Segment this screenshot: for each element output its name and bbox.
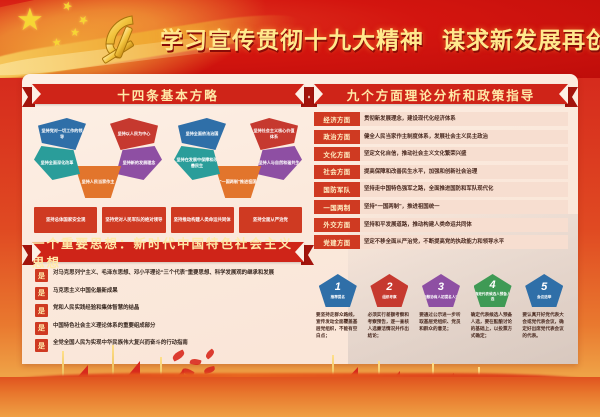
petal-1 [171,349,186,361]
pentagon-right-segment-top-left[interactable]: 坚持全面依法治国 [178,118,226,150]
table-row[interactable]: 文化方面 坚定文化自信，推动社会主义文化繁荣兴盛 [314,147,568,161]
strategy-box-4[interactable]: 坚持全面从严治党 [239,207,302,233]
segment-label: 坚持以人民为中心 [118,131,151,137]
bottom-flag-decoration [0,322,600,417]
left-panel-title: 十四条基本方略 [117,85,219,104]
pentagon-right-segment-top-right[interactable]: 坚持社会主义核心价值体系 [250,118,298,150]
list-item[interactable]: 是 党和人民实践经验和集体智慧的结晶 [35,304,301,317]
thought-title-ribbon: 一个重要思想：新时代中国特色社会主义思想 [32,242,304,262]
segment-label: 坚持党对一切工作的领导 [40,128,84,139]
strategy-box-1[interactable]: 坚持总体国家安全观 [34,207,97,233]
thought-item-text: 马克思主义中国化最新成果 [53,287,118,295]
poster-root: ★ ★ ★ ★ ★ 学习宣传贯彻十九大精神 谋求新发展再创新业绩 [0,0,600,417]
badge-number: 4 [490,280,496,291]
ribbon-notch-right [295,84,304,104]
aspect-text: 坚定不移全面从严治党，不断提高党的执政能力和领导水平 [360,235,568,249]
aspect-text: 提高保障和改善民生水平，加强和创新社会治理 [360,165,568,179]
aspect-text: 坚持“一国两制”，推进祖国统一 [360,200,568,214]
pentagon-right-segment-right[interactable]: 坚持人与自然和谐共生 [256,146,302,180]
pentagon-diagrams: 坚持党对一切工作的领导 坚持以人民为中心 坚持新的发展理念 坚持人民当家作主 坚… [32,112,304,200]
right-column: 九个方面理论分析和政策指导 经济方面 贯彻新发展理念，建设现代化经济体系 政治方… [314,84,568,253]
petal-3 [204,348,216,359]
aspect-label: 一国两制 [314,200,360,214]
thought-section-title: 一个重要思想：新时代中国特色社会主义思想 [32,233,304,271]
ribbon-notch-left [32,84,41,104]
petal-2 [189,358,201,366]
pentagon-diagram-right: 坚持全面依法治国 坚持社会主义核心价值体系 坚持人与自然和谐共生 坚持"一国两制… [174,112,302,200]
ribbon-notch-right [559,84,568,104]
aspect-text: 坚持和平发展道路，推动构建人类命运共同体 [360,218,568,232]
right-panel-title-ribbon: 九个方面理论分析和政策指导 [314,84,568,104]
header-title-left: 学习宣传贯彻十九大精神 [160,21,424,55]
table-row[interactable]: 政治方面 健全人民当家作主制度体系，发展社会主义民主政治 [314,130,568,144]
strategy-box-3[interactable]: 坚持推动构建人类命运共同体 [171,207,234,233]
badge-label: 推荐提名 [331,295,345,299]
table-row[interactable]: 一国两制 坚持“一国两制”，推进祖国统一 [314,200,568,214]
table-row[interactable]: 外交方面 坚持和平发展道路，推动构建人类命运共同体 [314,218,568,232]
segment-label: 坚持人民当家作主 [82,179,115,185]
pentagon-diagram-left: 坚持党对一切工作的领导 坚持以人民为中心 坚持新的发展理念 坚持人民当家作主 坚… [34,112,162,200]
list-item[interactable]: 是 马克思主义中国化最新成果 [35,287,301,300]
left-column: 十四条基本方略 坚持党对一切工作的领导 坚持以人民为中心 坚持新的发展理念 坚持… [32,84,304,357]
segment-label: 坚持全面依法治国 [186,131,219,137]
pentagon-right-segment-left[interactable]: 坚持在发展中保障和改善民生 [174,146,220,180]
pentagon-badge-shape-4: 4 确定代表候选人预备人选 [474,274,512,307]
segment-label: 坚持在发展中保障和改善民生 [176,157,218,168]
segment-label: 坚持人与自然和谐共生 [259,160,300,166]
aspect-text: 健全人民当家作主制度体系，发展社会主义民主政治 [360,130,568,144]
aspect-text: 贯彻新发展理念，建设现代化经济体系 [360,112,568,126]
badge-label: 确定代表候选人预备人选 [474,292,512,301]
table-row[interactable]: 国防军队 坚持走中国特色强军之路，全面推进国防和军队现代化 [314,182,568,196]
strategy-boxes: 坚持总体国家安全观 坚持党对人民军队的绝对领导 坚持推动构建人类命运共同体 坚持… [32,207,304,233]
aspect-label: 经济方面 [314,112,360,126]
pentagon-left-segment-top-left[interactable]: 坚持党对一切工作的领导 [38,118,86,150]
content-panel: 十四条基本方略 坚持党对一切工作的领导 坚持以人民为中心 坚持新的发展理念 坚持… [22,74,578,364]
poster-header: ★ ★ ★ ★ ★ 学习宣传贯彻十九大精神 谋求新发展再创新业绩 [0,0,600,78]
segment-label: 坚持社会主义核心价值体系 [252,128,296,139]
table-row[interactable]: 党建方面 坚定不移全面从严治党，不断提高党的执政能力和领导水平 [314,235,568,249]
badge-number: 3 [438,282,444,293]
pentagon-badge-shape-1: 1 推荐提名 [319,274,357,307]
pentagon-badge-shape-2: 2 组织考察 [370,274,408,307]
pentagon-left-segment-top-right[interactable]: 坚持以人民为中心 [110,118,158,150]
flag-star-small-4-icon: ★ [51,37,62,49]
table-row[interactable]: 社会方面 提高保障和改善民生水平，加强和创新社会治理 [314,165,568,179]
aspect-label: 外交方面 [314,218,360,232]
pentagon-badge-shape-3: 3 酝酿协商人初提名人选 [422,274,460,307]
badge-label: 组织考察 [382,295,396,299]
nine-aspects-list: 经济方面 贯彻新发展理念，建设现代化经济体系 政治方面 健全人民当家作主制度体系… [314,112,568,249]
shi-badge-icon: 是 [35,287,48,300]
flag-star-large-icon: ★ [16,4,44,35]
segment-label: 坚持全面深化改革 [41,160,74,166]
badge-number: 2 [386,282,392,293]
hammer-and-sickle-emblem-icon [88,6,152,70]
header-title: 学习宣传贯彻十九大精神 谋求新发展再创新业绩 [160,13,592,63]
shi-badge-icon: 是 [35,304,48,317]
aspect-label: 文化方面 [314,147,360,161]
left-panel-title-ribbon: 十四条基本方略 [32,84,304,104]
pentagon-badge-shape-5: 5 会议选举 [525,274,563,307]
segment-label: 坚持新的发展理念 [123,160,156,166]
aspect-label: 党建方面 [314,235,360,249]
badge-number: 1 [335,282,341,293]
aspect-label: 国防军队 [314,182,360,196]
ground-base [0,377,600,417]
header-title-right: 谋求新发展再创新业绩 [442,21,600,55]
strategy-box-2[interactable]: 坚持党对人民军队的绝对领导 [102,207,165,233]
right-panel-title: 九个方面理论分析和政策指导 [347,85,536,104]
aspect-label: 政治方面 [314,130,360,144]
table-row[interactable]: 经济方面 贯彻新发展理念，建设现代化经济体系 [314,112,568,126]
segment-label: 坚持"一国两制"推进祖国统一 [211,179,264,185]
pentagon-left-segment-right[interactable]: 坚持新的发展理念 [116,146,162,180]
aspect-label: 社会方面 [314,165,360,179]
thought-item-text: 党和人民实践经验和集体智慧的结晶 [53,304,139,312]
badge-number: 5 [541,282,547,293]
aspect-text: 坚定文化自信，推动社会主义文化繁荣兴盛 [360,147,568,161]
flag-star-small-3-icon: ★ [70,28,81,40]
badge-label: 会议选举 [537,295,551,299]
pentagon-left-segment-left[interactable]: 坚持全面深化改革 [34,146,80,180]
badge-label: 酝酿协商人初提名人选 [423,295,459,299]
aspect-text: 坚持走中国特色强军之路，全面推进国防和军队现代化 [360,182,568,196]
ribbon-notch-left [314,84,323,104]
